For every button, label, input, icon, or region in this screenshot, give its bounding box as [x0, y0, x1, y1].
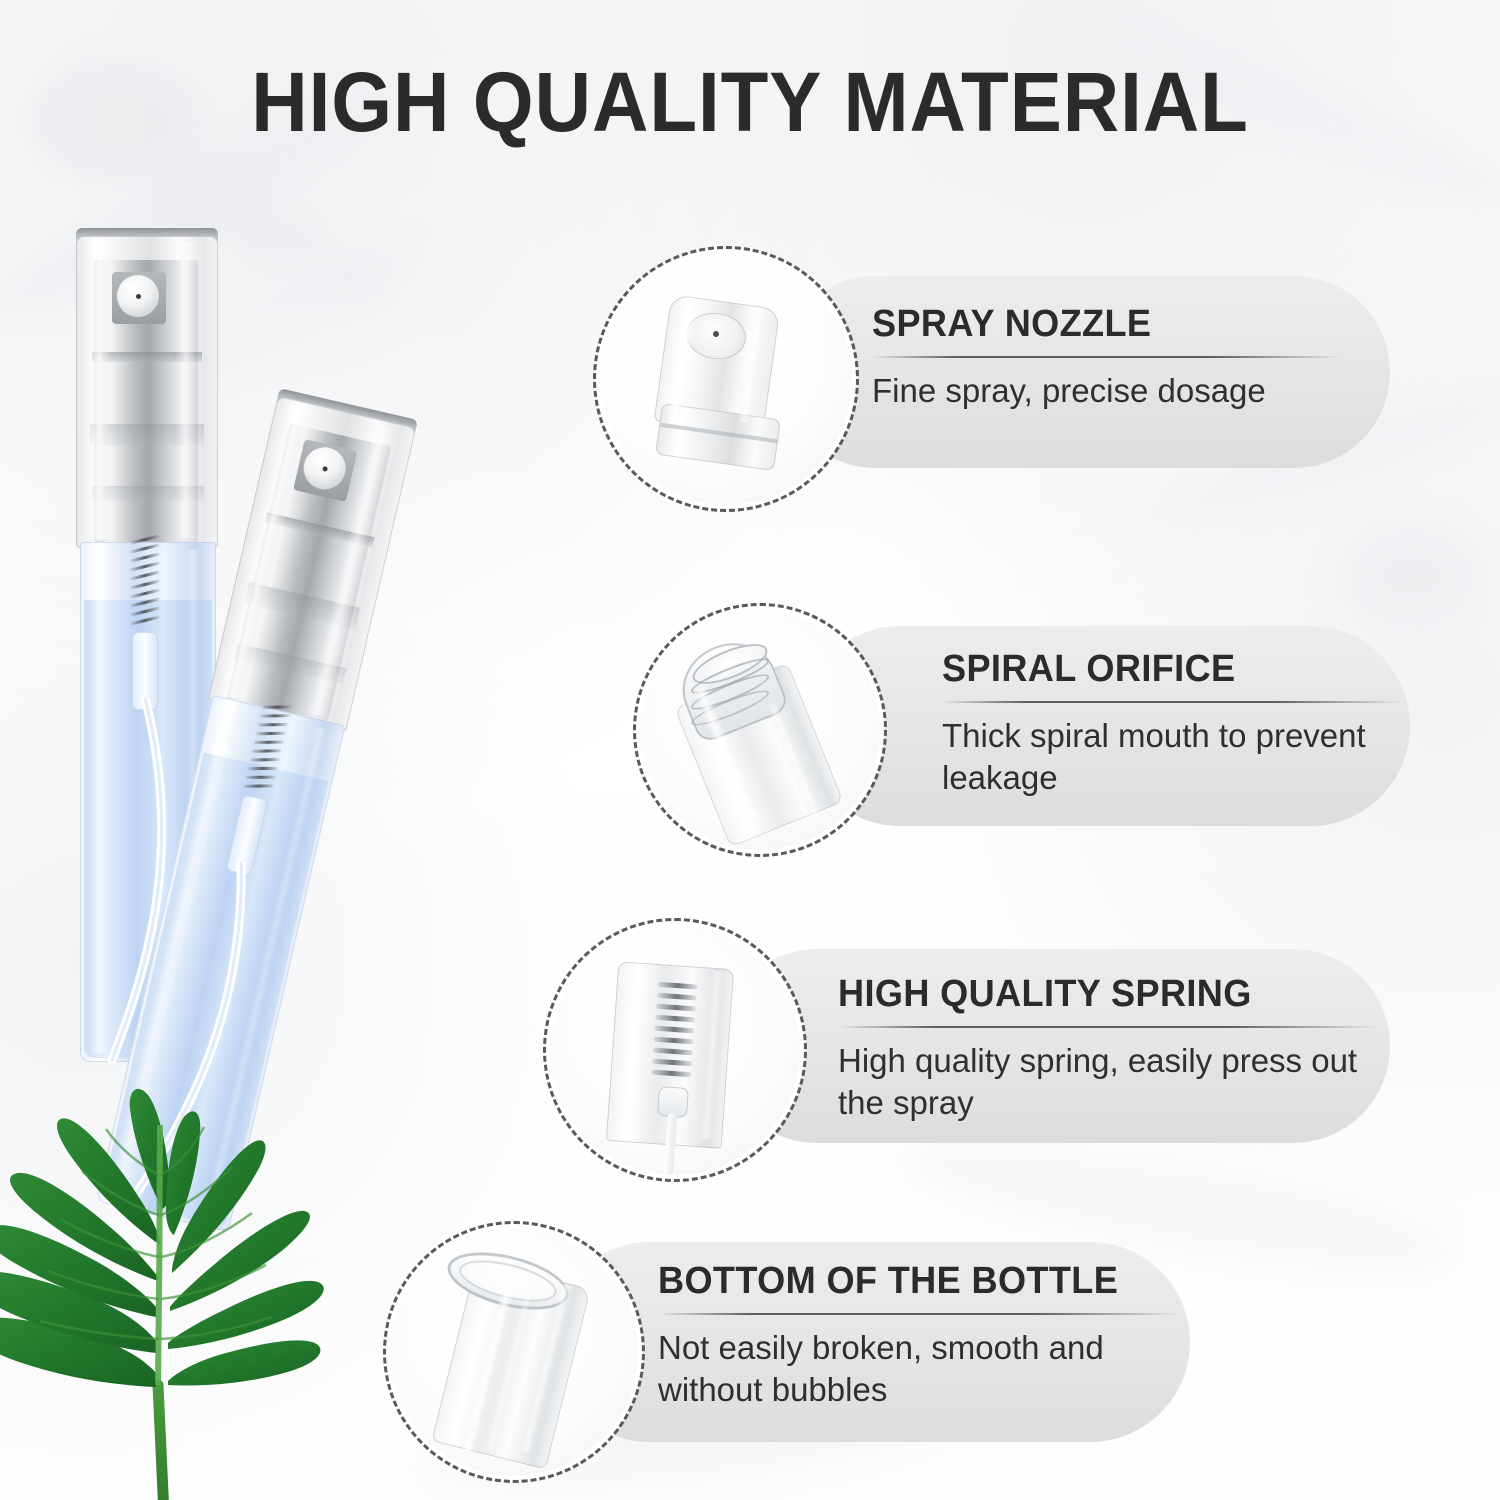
- feature-divider: [942, 701, 1402, 703]
- cap-highlight: [176, 242, 196, 538]
- feature-text: SPIRAL ORIFICE Thick spiral mouth to pre…: [942, 648, 1402, 799]
- infographic-canvas: HIGH QUALITY MATERIAL: [0, 0, 1500, 1500]
- feature-callout-high-quality-spring: HIGH QUALITY SPRING High quality spring,…: [540, 925, 1390, 1185]
- feature-image-circle: [550, 925, 800, 1175]
- bottle-bottom-photo: [390, 1228, 638, 1476]
- feature-title: SPIRAL ORIFICE: [942, 648, 1379, 691]
- feature-title: SPRAY NOZZLE: [872, 303, 1319, 346]
- feature-callout-spiral-orifice: SPIRAL ORIFICE Thick spiral mouth to pre…: [640, 610, 1410, 860]
- feature-image-circle: [390, 1228, 638, 1476]
- feature-divider: [838, 1026, 1378, 1028]
- feature-image-circle: [600, 253, 852, 505]
- tube-highlight: [90, 548, 108, 1054]
- feature-callout-bottom-of-the-bottle: BOTTOM OF THE BOTTLE Not easily broken, …: [380, 1228, 1210, 1488]
- feature-image-circle: [640, 610, 880, 850]
- cap-highlight: [86, 240, 112, 540]
- spray-nozzle-photo: [600, 253, 852, 505]
- pump-spring: [130, 538, 160, 634]
- page-title: HIGH QUALITY MATERIAL: [53, 54, 1448, 151]
- feature-text: BOTTOM OF THE BOTTLE Not easily broken, …: [658, 1260, 1178, 1411]
- nozzle-hole: [136, 294, 141, 299]
- feature-callout-spray-nozzle: SPRAY NOZZLE Fine spray, precise dosage: [600, 253, 1390, 503]
- feature-title: BOTTOM OF THE BOTTLE: [658, 1260, 1152, 1303]
- feature-description: Thick spiral mouth to prevent leakage: [942, 715, 1402, 799]
- feature-divider: [872, 356, 1342, 358]
- spring-photo: [550, 925, 800, 1175]
- feature-description: High quality spring, easily press out th…: [838, 1040, 1378, 1124]
- feature-title: HIGH QUALITY SPRING: [838, 973, 1351, 1016]
- monstera-leaf: [0, 1085, 390, 1500]
- feature-text: SPRAY NOZZLE Fine spray, precise dosage: [872, 303, 1342, 412]
- feature-description: Not easily broken, smooth and without bu…: [658, 1327, 1178, 1411]
- bokeh-shape: [235, 205, 330, 277]
- spiral-orifice-photo: [640, 610, 880, 850]
- feature-description: Fine spray, precise dosage: [872, 370, 1342, 412]
- feature-text: HIGH QUALITY SPRING High quality spring,…: [838, 973, 1378, 1124]
- feature-divider: [658, 1313, 1178, 1315]
